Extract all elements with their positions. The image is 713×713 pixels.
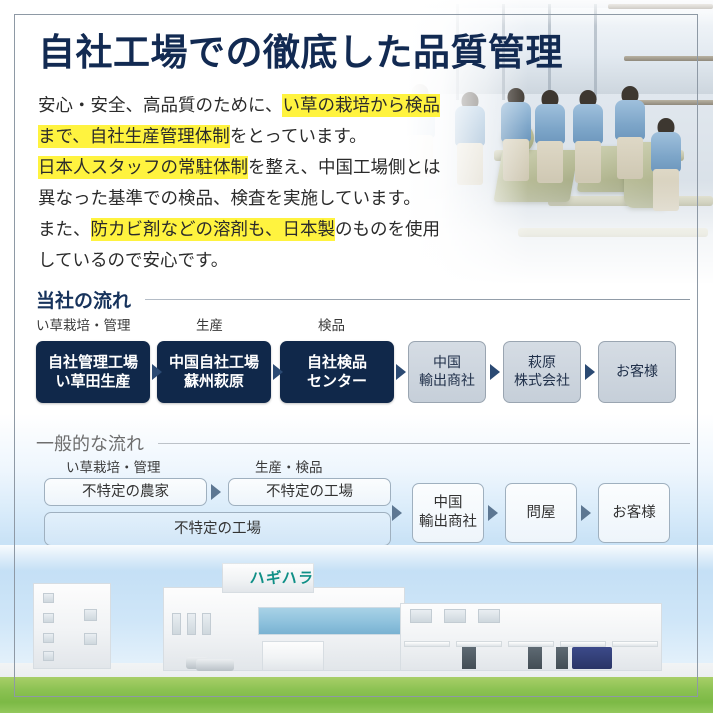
flow-node-general-wide: 不特定の工場 <box>44 512 391 546</box>
node-label: 不特定の工場 <box>266 483 353 502</box>
flow-node-general-right: 中国輸出商社 <box>412 483 484 543</box>
flow-node-general-top: 不特定の農家 <box>44 478 207 506</box>
flow-stage-label: 検品 <box>318 314 345 334</box>
building-window <box>43 651 54 661</box>
body-line: また、防カビ剤などの溶剤も、日本製のものを使用 <box>38 214 508 245</box>
building-window <box>84 633 97 645</box>
node-label-line: 問屋 <box>527 504 556 523</box>
flow-arrow-icon <box>585 364 595 380</box>
flow-arrow-icon <box>392 505 402 521</box>
parked-car <box>214 659 234 671</box>
flow-stage-label: い草栽培・管理 <box>66 456 161 476</box>
flow-arrow-icon <box>211 484 221 500</box>
flow-node-general-right: 問屋 <box>505 483 577 543</box>
node-label: 中国輸出商社 <box>419 354 475 390</box>
infographic-page: 自社工場での徹底した品質管理 安心・安全、高品質のために、い草の栽培から検品まで… <box>0 0 713 713</box>
body-copy: 安心・安全、高品質のために、い草の栽培から検品まで、自社生産管理体制をとっていま… <box>38 90 508 276</box>
highlighted-phrase: まで、自社生産管理体制 <box>38 125 230 148</box>
flow-node-own: お客様 <box>598 341 676 403</box>
curtain-wall-glass <box>258 607 403 635</box>
building-window <box>43 633 54 643</box>
body-text-run: また、 <box>38 219 91 239</box>
node-label-line: 株式会社 <box>514 372 570 390</box>
body-text-run: のものを使用 <box>335 219 440 239</box>
entrance-canopy <box>262 641 324 671</box>
node-label-line: 蘇州萩原 <box>169 372 259 391</box>
node-label: お客様 <box>616 363 658 381</box>
building-window <box>478 609 500 623</box>
building-window <box>43 593 54 603</box>
node-label-line: 自社検品 <box>307 353 367 372</box>
flow-arrow-icon <box>273 364 283 380</box>
node-label-line: 中国 <box>419 494 477 513</box>
building-window <box>43 613 54 623</box>
node-label: 自社管理工場い草田生産 <box>48 353 138 391</box>
node-label-line: 中国 <box>419 354 475 372</box>
node-label-line: い草田生産 <box>48 372 138 391</box>
body-text-run: をとっています。 <box>230 126 367 146</box>
flow-node-own: 中国輸出商社 <box>408 341 486 403</box>
flow-arrow-icon <box>152 364 162 380</box>
flow-arrow-icon <box>490 364 500 380</box>
photo-fade-top <box>0 545 713 571</box>
building-window <box>410 609 432 623</box>
section-title-own-flow: 当社の流れ <box>36 286 131 313</box>
node-label: 中国自社工場蘇州萩原 <box>169 353 259 391</box>
body-text-run: しているので安心です。 <box>38 250 228 270</box>
building-window <box>202 613 211 635</box>
building-window <box>444 609 466 623</box>
node-label: お客様 <box>612 504 656 523</box>
building-window <box>187 613 196 635</box>
flow-arrow-icon <box>581 505 591 521</box>
flow-node-general-right: お客様 <box>598 483 670 543</box>
node-label-line: 自社管理工場 <box>48 353 138 372</box>
body-line: 安心・安全、高品質のために、い草の栽培から検品 <box>38 90 508 121</box>
node-label-line: センター <box>307 372 367 391</box>
flow-stage-label: 生産 <box>196 314 223 334</box>
building-window <box>172 613 181 635</box>
node-label-line: お客様 <box>616 363 658 381</box>
body-line: まで、自社生産管理体制をとっています。 <box>38 121 508 152</box>
node-label: 中国輸出商社 <box>419 494 477 531</box>
node-label-line: 中国自社工場 <box>169 353 259 372</box>
loading-door <box>462 647 476 669</box>
flow-arrow-icon <box>488 505 498 521</box>
delivery-truck <box>572 647 612 669</box>
node-label: 問屋 <box>527 504 556 523</box>
flow-node-own: 萩原株式会社 <box>503 341 581 403</box>
body-line: 日本人スタッフの常駐体制を整え、中国工場側とは <box>38 152 508 183</box>
body-text-run: を整え、中国工場側とは <box>248 157 441 177</box>
highlighted-phrase: 防カビ剤などの溶剤も、日本製 <box>91 218 335 241</box>
node-label-line: 不特定の農家 <box>82 483 169 502</box>
node-label-line: 輸出商社 <box>419 372 475 390</box>
factory-photo: ハギハラ <box>0 545 713 713</box>
node-label: 不特定の農家 <box>82 483 169 502</box>
node-label-line: 不特定の工場 <box>266 483 353 502</box>
body-text-run: 安心・安全、高品質のために、 <box>38 95 282 115</box>
flow-arrow-icon <box>396 364 406 380</box>
flow-stage-label: い草栽培・管理 <box>36 314 131 334</box>
node-label: 萩原株式会社 <box>514 354 570 390</box>
loading-door <box>528 647 542 669</box>
ceiling-rail <box>624 56 713 61</box>
node-label-line: お客様 <box>612 504 656 523</box>
flow-node-own: 自社管理工場い草田生産 <box>36 341 150 403</box>
loading-awning <box>404 641 450 647</box>
node-label-line: 輸出商社 <box>419 513 477 532</box>
node-label: 自社検品センター <box>307 353 367 391</box>
page-title: 自社工場での徹底した品質管理 <box>38 34 563 71</box>
flow-stage-label: 生産・検品 <box>255 456 323 476</box>
loading-door <box>556 647 568 669</box>
section-header-own-flow: 当社の流れ <box>36 286 690 313</box>
section-rule <box>145 299 690 300</box>
flow-node-own: 自社検品センター <box>280 341 394 403</box>
ceiling-rail <box>636 100 713 105</box>
node-label-line: 不特定の工場 <box>174 520 261 539</box>
node-label: 不特定の工場 <box>174 520 261 539</box>
building-window <box>84 609 97 621</box>
highlighted-phrase: 日本人スタッフの常駐体制 <box>38 156 248 179</box>
body-line: しているので安心です。 <box>38 245 508 276</box>
flow-node-general-top: 不特定の工場 <box>228 478 391 506</box>
body-line: 異なった基準での検品、検査を実施しています。 <box>38 183 508 214</box>
section-rule <box>158 443 690 444</box>
node-label-line: 萩原 <box>514 354 570 372</box>
section-title-general-flow: 一般的な流れ <box>36 430 144 456</box>
loading-awning <box>612 641 658 647</box>
section-header-general-flow: 一般的な流れ <box>36 430 690 456</box>
highlighted-phrase: い草の栽培から検品 <box>282 94 440 117</box>
flow-node-own: 中国自社工場蘇州萩原 <box>157 341 271 403</box>
lawn <box>0 677 713 713</box>
body-text-run: 異なった基準での検品、検査を実施しています。 <box>38 188 421 208</box>
